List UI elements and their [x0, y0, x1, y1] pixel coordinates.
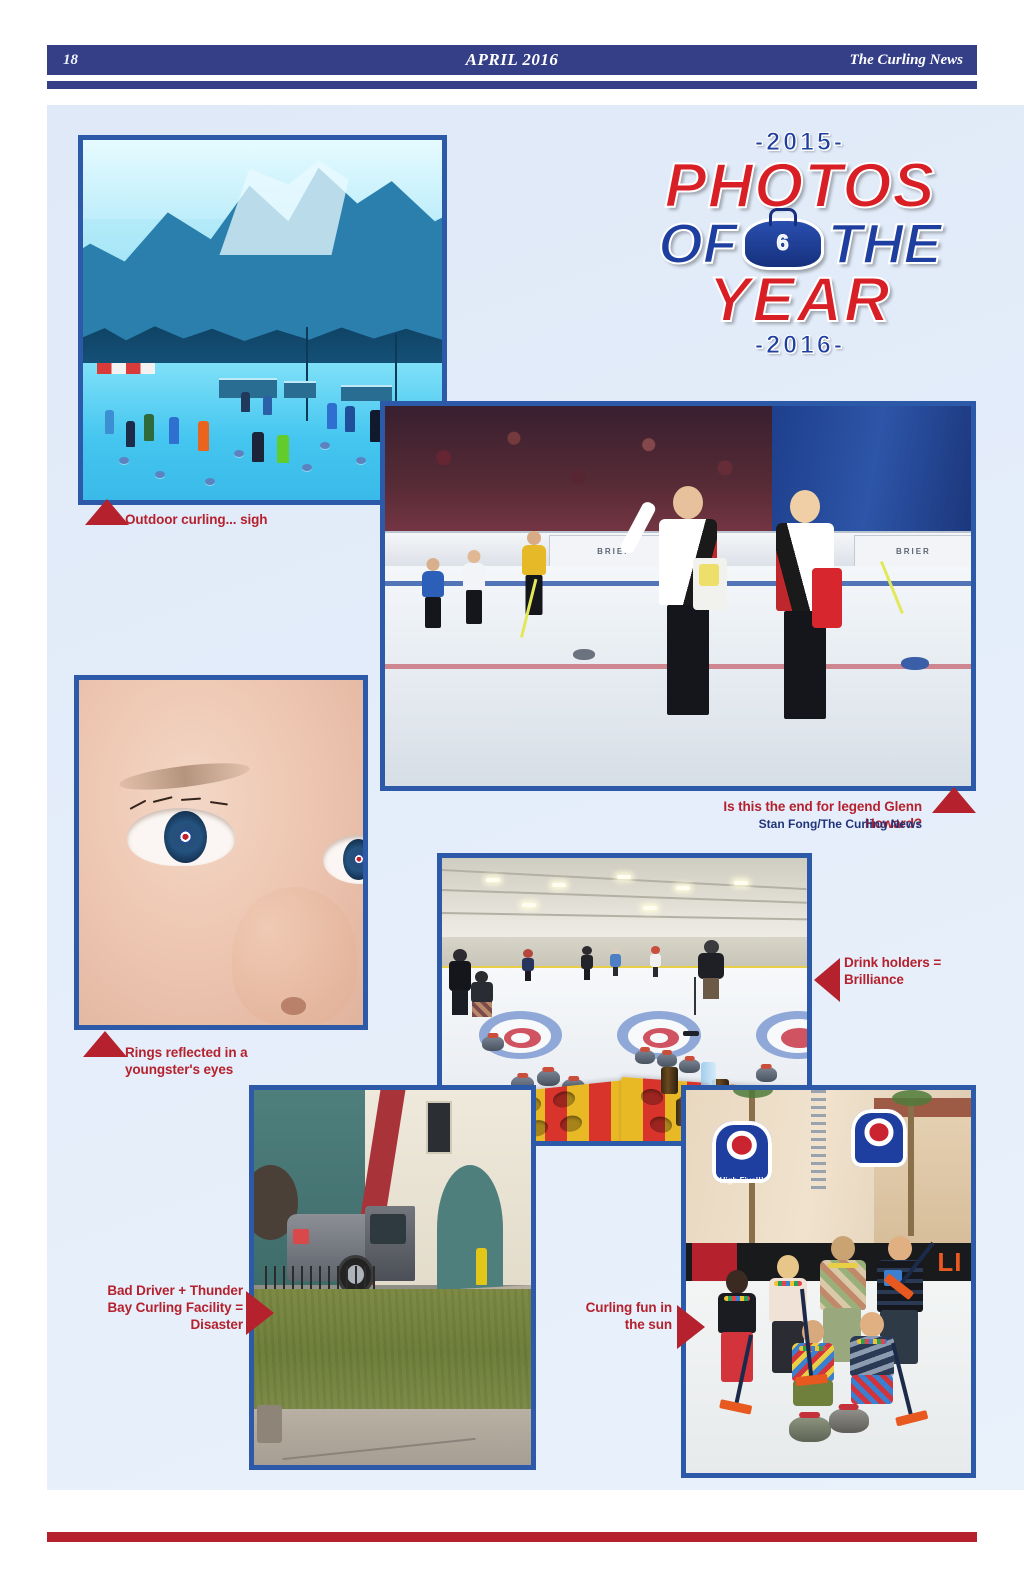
curling-stone-icon: 6: [742, 218, 824, 270]
caption-child-eye: Rings reflected in a youngster's eyes: [125, 1045, 315, 1079]
masthead-bar: 18 APRIL 2016 The Curling News: [47, 45, 977, 75]
caption-drink-holders-line1: Drink holders =: [844, 955, 994, 972]
photo-curling-in-the-sun: High Five!!! LI: [681, 1085, 976, 1478]
high-five-sign-right: [851, 1109, 907, 1167]
arrow-glenn-howard: [932, 787, 976, 813]
caption-sun-line1: Curling fun in: [557, 1300, 672, 1317]
caption-car-crash: Bad Driver + Thunder Bay Curling Facilit…: [107, 1283, 243, 1334]
photo-glenn-howard-brier: BRIER BRIER: [380, 401, 976, 791]
photos-of-the-year-logo: -2015- PHOTOS OF 6 THE YEAR -2016-: [630, 128, 970, 393]
photo-car-crash-facility: [249, 1085, 536, 1470]
photo-child-eye-rings: [74, 675, 368, 1030]
footer-rule: [47, 1532, 977, 1542]
caption-drink-holders: Drink holders = Brilliance: [844, 955, 994, 989]
caption-car-crash-line2: Bay Curling Facility =: [107, 1300, 243, 1317]
credit-glenn-howard: Stan Fong/The Curling News: [667, 817, 922, 831]
high-five-sign-left: High Five!!!: [712, 1121, 772, 1183]
brier-artwork: BRIER BRIER: [385, 406, 971, 786]
curling-in-the-sun-artwork: High Five!!! LI: [686, 1090, 971, 1473]
issue-date: APRIL 2016: [47, 50, 977, 70]
caption-outdoor-curling: Outdoor curling... sigh: [125, 512, 375, 529]
stone-number: 6: [776, 233, 788, 254]
scoreboard-right: BRIER: [854, 535, 973, 567]
caption-curling-in-the-sun: Curling fun in the sun: [557, 1300, 672, 1334]
high-five-label-left: High Five!!!: [720, 1176, 764, 1185]
arrow-drink-holders: [814, 958, 840, 1002]
caption-sun-line2: the sun: [557, 1317, 672, 1334]
logo-word-year: YEAR: [708, 271, 891, 331]
sponsor-banner-text: LI: [937, 1243, 962, 1281]
logo-year-bottom: -2016-: [630, 331, 970, 360]
masthead-rule: [47, 81, 977, 89]
arrow-outdoor-curling: [85, 499, 129, 525]
logo-word-of: OF: [658, 217, 737, 271]
arrow-car-crash: [246, 1291, 274, 1335]
arrow-curling-in-the-sun: [677, 1305, 705, 1349]
caption-car-crash-line3: Disaster: [107, 1317, 243, 1334]
caption-child-eye-line2: youngster's eyes: [125, 1062, 315, 1079]
publication-name: The Curling News: [850, 52, 963, 69]
logo-word-photos: PHOTOS: [665, 157, 936, 217]
caption-car-crash-line1: Bad Driver + Thunder: [107, 1283, 243, 1300]
page-content-area: -2015- PHOTOS OF 6 THE YEAR -2016-: [47, 105, 1024, 1490]
car-crash-artwork: [254, 1090, 531, 1465]
logo-word-the: THE: [828, 217, 942, 271]
arrow-child-eye: [83, 1031, 127, 1057]
caption-child-eye-line1: Rings reflected in a: [125, 1045, 315, 1062]
child-eye-artwork: [79, 680, 363, 1025]
caption-drink-holders-line2: Brilliance: [844, 972, 994, 989]
